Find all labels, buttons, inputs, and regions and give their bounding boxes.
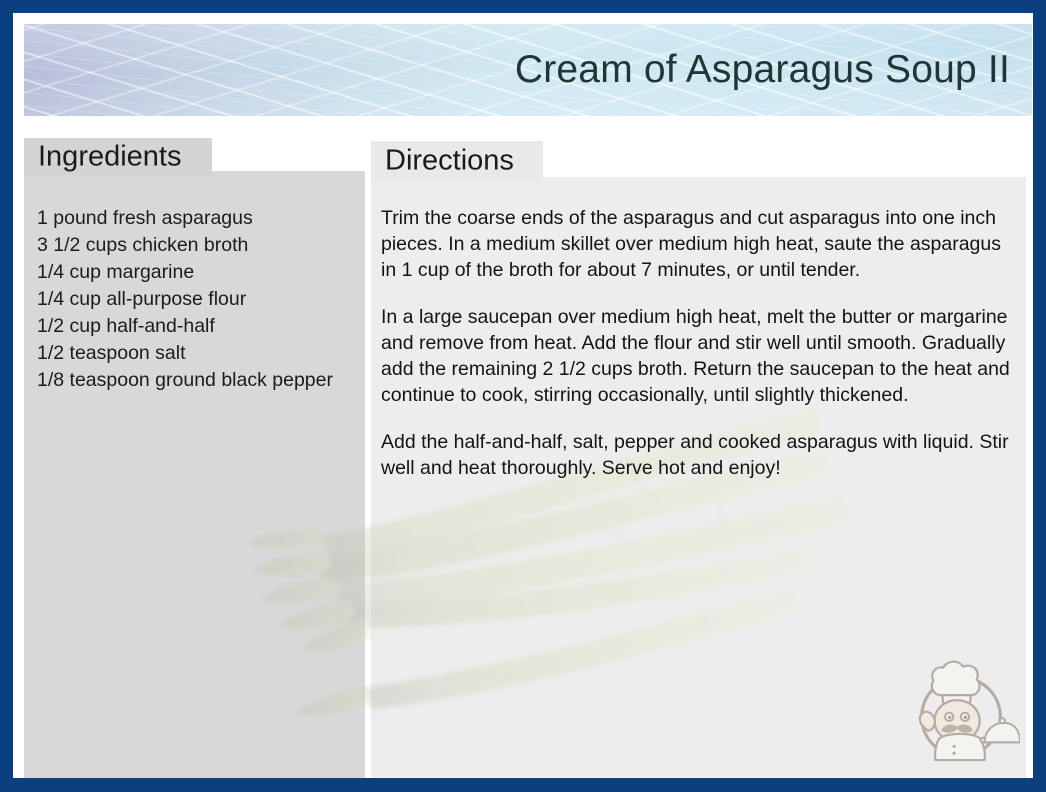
ingredients-heading: Ingredients — [38, 141, 182, 174]
directions-header-tab: Directions — [371, 141, 543, 181]
page-title: Cream of Asparagus Soup II — [515, 48, 1010, 92]
direction-step: Trim the coarse ends of the asparagus an… — [381, 205, 1019, 283]
list-item: 1/2 teaspoon salt — [37, 340, 347, 367]
directions-heading: Directions — [385, 145, 514, 178]
title-banner: Cream of Asparagus Soup II — [24, 24, 1032, 116]
list-item: 1 pound fresh asparagus — [37, 205, 347, 232]
list-item: 1/4 cup margarine — [37, 259, 347, 286]
recipe-slide: Cream of Asparagus Soup II Ingredients D… — [0, 0, 1046, 792]
list-item: 1/2 cup half-and-half — [37, 313, 347, 340]
list-item: 3 1/2 cups chicken broth — [37, 232, 347, 259]
direction-step: Add the half-and-half, salt, pepper and … — [381, 429, 1019, 481]
direction-step: In a large saucepan over medium high hea… — [381, 304, 1019, 408]
slide-content-area: Cream of Asparagus Soup II Ingredients D… — [13, 13, 1033, 778]
list-item: 1/8 teaspoon ground black pepper — [37, 367, 347, 394]
list-item: 1/4 cup all-purpose flour — [37, 286, 347, 313]
ingredients-list: 1 pound fresh asparagus 3 1/2 cups chick… — [37, 205, 347, 394]
directions-body: Trim the coarse ends of the asparagus an… — [381, 205, 1019, 481]
ingredients-header-tab: Ingredients — [24, 138, 212, 176]
